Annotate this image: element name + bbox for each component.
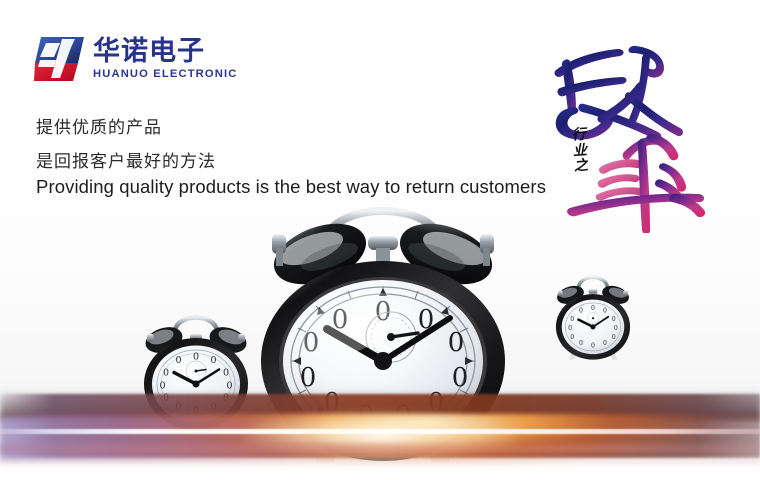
promo-banner: 华诺电子 HUANUO ELECTRONIC 提供优质的产品 是回报客户最好的方…: [0, 0, 760, 480]
svg-text:0: 0: [159, 381, 165, 392]
huanuo-h-monogram-icon: [34, 36, 84, 82]
svg-text:0: 0: [570, 334, 574, 341]
svg-text:0: 0: [579, 307, 583, 314]
svg-text:0: 0: [226, 381, 232, 392]
clock-right: 000 000 000 000: [549, 268, 637, 364]
calligraphy-side-char-3: 之: [574, 159, 589, 176]
slogan-cn-line-2: 是回报客户最好的方法: [36, 147, 216, 172]
calligraphy-artwork: 行 业 之: [540, 18, 755, 233]
svg-text:0: 0: [324, 388, 341, 418]
company-name-en: HUANUO ELECTRONIC: [93, 68, 237, 80]
svg-text:0: 0: [568, 325, 572, 332]
logo-text-block: 华诺电子 HUANUO ELECTRONIC: [93, 38, 237, 81]
svg-text:0: 0: [210, 402, 216, 413]
svg-text:0: 0: [210, 355, 216, 366]
svg-text:0: 0: [612, 334, 616, 341]
svg-text:0: 0: [603, 307, 607, 314]
clock-main: 0 0 0 0 0 0 0 0 0 0 0: [258, 196, 508, 471]
clock-left: 000 000 000 000: [136, 304, 256, 436]
svg-text:0: 0: [591, 343, 595, 350]
svg-text:0: 0: [175, 402, 181, 413]
svg-text:0: 0: [570, 316, 574, 323]
svg-text:0: 0: [163, 368, 169, 379]
svg-text:0: 0: [300, 363, 317, 393]
svg-text:0: 0: [163, 393, 169, 404]
svg-text:0: 0: [193, 405, 199, 416]
svg-text:0: 0: [612, 316, 616, 323]
svg-text:0: 0: [591, 305, 595, 312]
slogan-en: Providing quality products is the best w…: [36, 176, 546, 198]
svg-text:0: 0: [175, 355, 181, 366]
svg-text:0: 0: [579, 340, 583, 347]
company-name-cn: 华诺电子: [93, 38, 237, 66]
svg-text:0: 0: [223, 393, 229, 404]
company-logo[interactable]: 华诺电子 HUANUO ELECTRONIC: [34, 36, 237, 82]
svg-text:0: 0: [223, 368, 229, 379]
svg-text:0: 0: [614, 325, 618, 332]
svg-text:0: 0: [448, 328, 465, 358]
svg-text:0: 0: [452, 363, 469, 393]
svg-text:0: 0: [603, 340, 607, 347]
slogan-cn-line-1: 提供优质的产品: [36, 113, 162, 138]
